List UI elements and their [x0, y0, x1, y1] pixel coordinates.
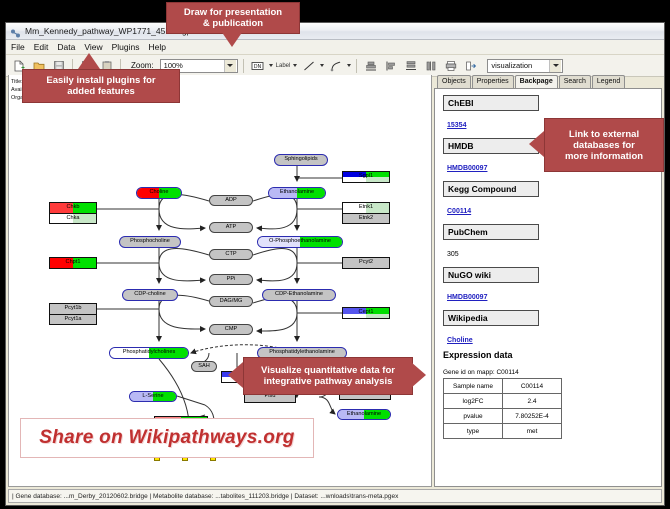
align-left-icon[interactable] [382, 57, 399, 74]
menubar: File Edit Data View Plugins Help [6, 40, 664, 55]
node-choline-top[interactable]: Choline [136, 187, 182, 199]
print-icon[interactable] [442, 57, 459, 74]
node-ppi[interactable]: PPi [209, 274, 253, 285]
node-o-phosphoethanolamine[interactable]: O-Phosphoethanolamine [257, 236, 343, 248]
tab-search[interactable]: Search [559, 75, 591, 88]
node-sah[interactable]: SAH [191, 361, 217, 372]
menu-plugins[interactable]: Plugins [112, 42, 140, 52]
menu-edit[interactable]: Edit [34, 42, 49, 52]
chevron-down-icon[interactable] [224, 60, 236, 72]
visualization-combobox[interactable]: visualization [487, 59, 563, 73]
expression-data-heading: Expression data [443, 350, 661, 360]
label-dropdown-icon[interactable] [293, 64, 297, 67]
side-panel-tabs: Objects Properties Backpage Search Legen… [434, 75, 662, 88]
visualization-chevron-down-icon[interactable] [549, 60, 561, 72]
kegg-compound-heading: Kegg Compound [443, 181, 539, 197]
callout-arrow-up-plugins [78, 53, 100, 69]
screenshot-root: Mm_Kennedy_pathway_WP1771_45176.gpml Fil… [0, 0, 670, 509]
node-sgpl1[interactable]: Sgpl1 [342, 171, 390, 183]
node-cmp[interactable]: CMP [209, 324, 253, 335]
hmdb-link[interactable]: HMDB00097 [447, 165, 487, 172]
callout-arrow-down-presentation [221, 31, 243, 47]
kegg-compound-link[interactable]: C00114 [447, 208, 471, 215]
node-chpt1[interactable]: Chpt1 [49, 257, 97, 269]
statusbar-text: | Gene database: ...m_Derby_20120602.bri… [12, 493, 398, 500]
node-l-serine-left[interactable]: L-Serine [129, 391, 177, 402]
align-center-icon[interactable] [362, 57, 379, 74]
arc-dropdown-icon[interactable] [347, 64, 351, 67]
chebi-heading: ChEBI [443, 95, 539, 111]
statusbar: | Gene database: ...m_Derby_20120602.bri… [8, 489, 662, 503]
table-row: pvalue 7.80252E-4 [444, 409, 562, 424]
pubchem-heading: PubChem [443, 224, 539, 240]
stack-vertical-icon[interactable] [402, 57, 419, 74]
node-sphingolipids[interactable]: Sphingolipids [274, 154, 328, 166]
line-dropdown-icon[interactable] [320, 64, 324, 67]
node-phosphocholine[interactable]: Phosphocholine [119, 236, 181, 248]
expr-val-log2fc: 2.4 [503, 394, 562, 409]
menu-file[interactable]: File [11, 42, 25, 52]
nugo-wiki-link[interactable]: HMDB00097 [447, 294, 487, 301]
toolbar-separator-3 [243, 59, 244, 73]
label-tool-label[interactable]: Label [276, 63, 291, 69]
expr-val-sample-name: C00114 [503, 379, 562, 394]
node-pcyt2[interactable]: Pcyt2 [342, 257, 390, 269]
tab-objects[interactable]: Objects [437, 75, 471, 88]
bring-front-icon[interactable] [462, 57, 479, 74]
window-titlebar: Mm_Kennedy_pathway_WP1771_45176.gpml [6, 23, 664, 40]
node-ctp[interactable]: CTP [209, 249, 253, 260]
tab-properties[interactable]: Properties [472, 75, 514, 88]
node-atp[interactable]: ATP [209, 222, 253, 233]
wikipedia-heading: Wikipedia [443, 310, 539, 326]
datanode-tool-icon[interactable]: DN [249, 57, 266, 74]
toolbar-separator-4 [356, 59, 357, 73]
nugo-wiki-heading: NuGO wiki [443, 267, 539, 283]
svg-text:DN: DN [253, 64, 261, 70]
node-cept1[interactable]: Cept1 [342, 307, 390, 319]
chebi-link[interactable]: 15354 [447, 122, 466, 129]
wikipedia-link[interactable]: Choline [447, 337, 473, 344]
node-chkb[interactable]: Chkb [49, 202, 97, 213]
node-pcyt1b[interactable]: Pcyt1b [49, 303, 97, 314]
expression-table: Sample name C00114 log2FC 2.4 pvalue 7.8… [443, 378, 562, 439]
callout-arrow-left-databases [529, 131, 544, 157]
node-adp[interactable]: ADP [209, 195, 253, 206]
expr-key-log2fc: log2FC [444, 394, 503, 409]
table-row: Sample name C00114 [444, 379, 562, 394]
menu-help[interactable]: Help [149, 42, 166, 52]
distribute-horizontal-icon[interactable] [422, 57, 439, 74]
node-etnk1[interactable]: Etnk1 [342, 202, 390, 213]
expr-key-sample-name: Sample name [444, 379, 503, 394]
node-cdp-choline[interactable]: CDP-choline [122, 289, 178, 301]
callout-draw-for-presentation: Draw for presentation & publication [166, 2, 300, 34]
pubchem-value: 305 [447, 251, 459, 258]
expr-key-type: type [444, 424, 503, 439]
node-dag-mg[interactable]: DAG/MG [209, 296, 253, 307]
visualization-value: visualization [491, 61, 532, 70]
callout-arrow-left-quantitative [228, 362, 243, 388]
callout-share-wikipathways: Share on Wikipathways.org [20, 418, 314, 458]
node-chka[interactable]: Chka [49, 213, 97, 224]
node-pcyt1a[interactable]: Pcyt1a [49, 314, 97, 325]
app-icon [10, 26, 21, 37]
hmdb-heading: HMDB [443, 138, 539, 154]
line-tool-icon[interactable] [300, 57, 317, 74]
menu-data[interactable]: Data [57, 42, 75, 52]
callout-easily-install-plugins: Easily install plugins for added feature… [22, 69, 180, 103]
node-ethanolamine-bottom[interactable]: Ethanolamine [337, 409, 391, 420]
tab-legend[interactable]: Legend [592, 75, 625, 88]
node-ethanolamine-top[interactable]: Ethanolamine [268, 187, 326, 199]
tab-backpage[interactable]: Backpage [515, 75, 558, 88]
arc-tool-icon[interactable] [327, 57, 344, 74]
node-etnk2[interactable]: Etnk2 [342, 213, 390, 224]
expr-val-pvalue: 7.80252E-4 [503, 409, 562, 424]
datanode-dropdown-icon[interactable] [269, 64, 273, 67]
expr-val-type: met [503, 424, 562, 439]
gene-id-on-mapp: Gene id on mapp: C00114 [443, 369, 661, 376]
callout-arrow-right-quantitative [411, 362, 426, 388]
node-cdp-ethanolamine[interactable]: CDP-Ethanolamine [262, 289, 336, 301]
callout-link-external-databases: Link to external databases for more info… [544, 118, 664, 172]
table-row: log2FC 2.4 [444, 394, 562, 409]
table-row: type met [444, 424, 562, 439]
expr-key-pvalue: pvalue [444, 409, 503, 424]
callout-visualize-quantitative-data: Visualize quantitative data for integrat… [243, 357, 413, 395]
share-text: Share on Wikipathways.org [39, 427, 294, 449]
node-phosphatidylcholines[interactable]: Phosphatidylcholines [109, 347, 189, 359]
menu-view[interactable]: View [84, 42, 102, 52]
